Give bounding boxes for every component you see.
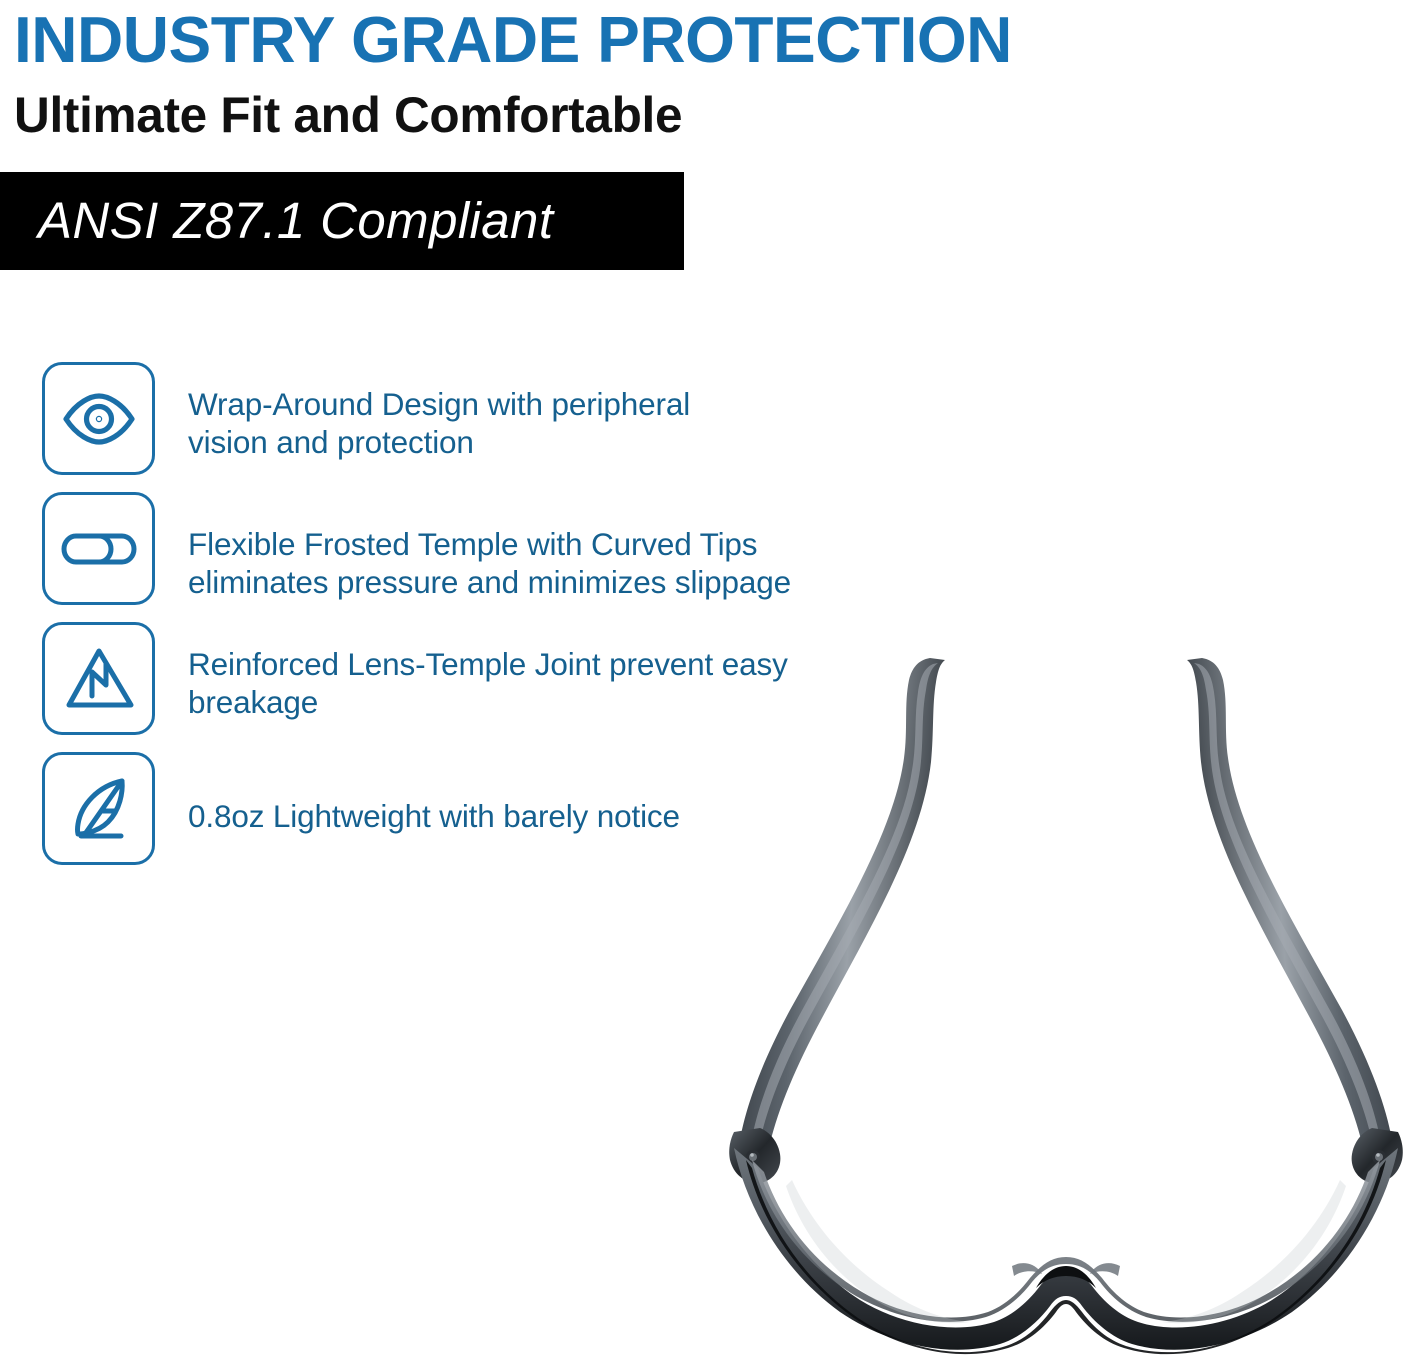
feature-label-wrap-around: Wrap-Around Design with peripheral visio… [155,362,942,461]
feature-label-flexible-temple: Flexible Frosted Temple with Curved Tips… [155,492,942,601]
compliance-badge-label: ANSI Z87.1 Compliant [0,193,553,249]
compliance-badge: ANSI Z87.1 Compliant [0,172,684,270]
page-subtitle: Ultimate Fit and Comfortable [14,86,1242,144]
chain-link-icon [42,492,155,605]
safety-glasses-illustration [690,620,1420,1358]
product-infographic: INDUSTRY GRADE PROTECTION Ultimate Fit a… [0,0,1420,1358]
warning-triangle-icon [42,622,155,735]
feature-item-flexible-temple: Flexible Frosted Temple with Curved Tips… [42,492,942,622]
page-title: INDUSTRY GRADE PROTECTION [14,0,1235,76]
eye-icon [42,362,155,475]
feather-icon [42,752,155,865]
product-image-safety-glasses [690,620,1420,1358]
feature-item-wrap-around: Wrap-Around Design with peripheral visio… [42,362,942,492]
header-block: INDUSTRY GRADE PROTECTION Ultimate Fit a… [14,0,1254,144]
